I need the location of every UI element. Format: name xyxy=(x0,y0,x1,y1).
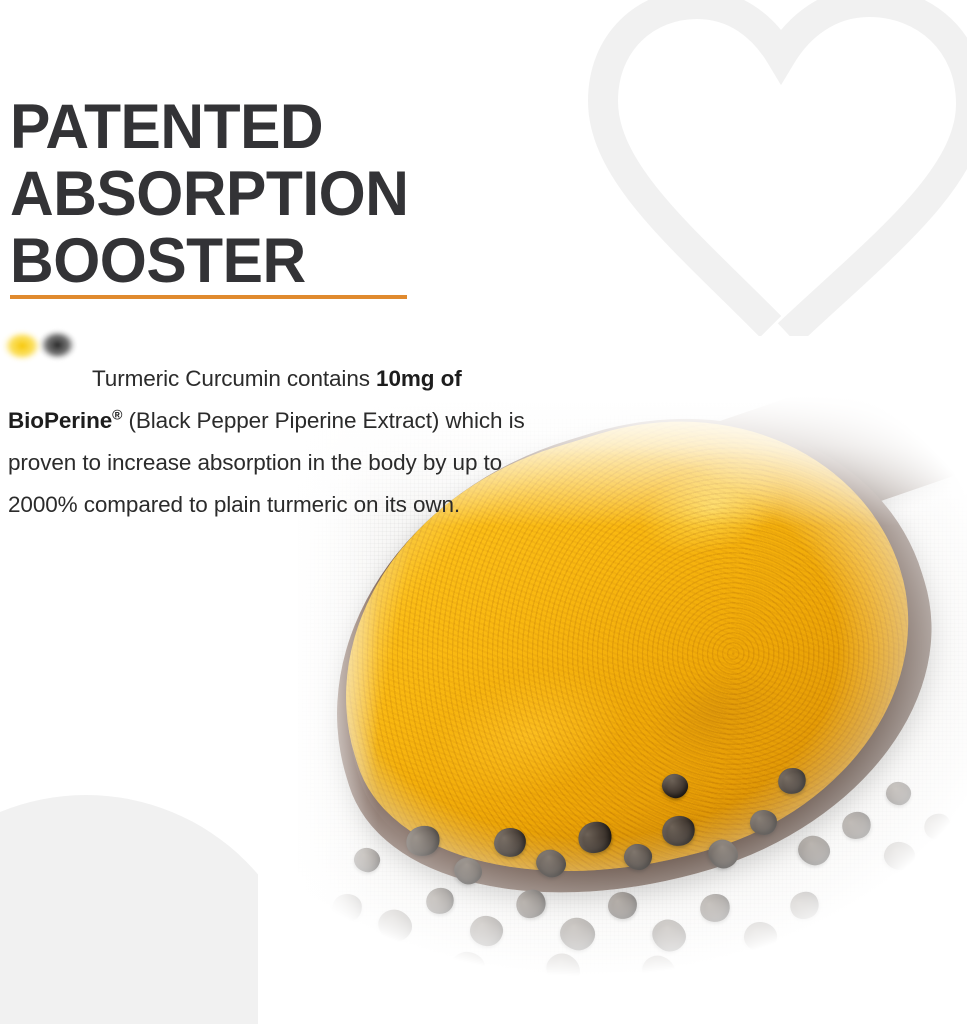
dose-highlight: 10mg xyxy=(376,366,434,391)
body-segment-1: Turmeric Curcumin contains xyxy=(92,366,376,391)
orange-divider xyxy=(10,295,407,299)
body-paragraph: Turmeric Curcumin contains 10mg of BioPe… xyxy=(8,358,528,526)
marketing-infographic-canvas: PATENTED ABSORPTION BOOSTER Turmeric Cur… xyxy=(0,0,967,1024)
heart-outline-watermark-icon xyxy=(585,0,967,336)
page-title: PATENTED ABSORPTION BOOSTER xyxy=(10,94,605,295)
circle-watermark-icon xyxy=(0,795,312,1024)
spoon-handle xyxy=(707,396,967,547)
registered-trademark-mark: ® xyxy=(112,406,122,422)
